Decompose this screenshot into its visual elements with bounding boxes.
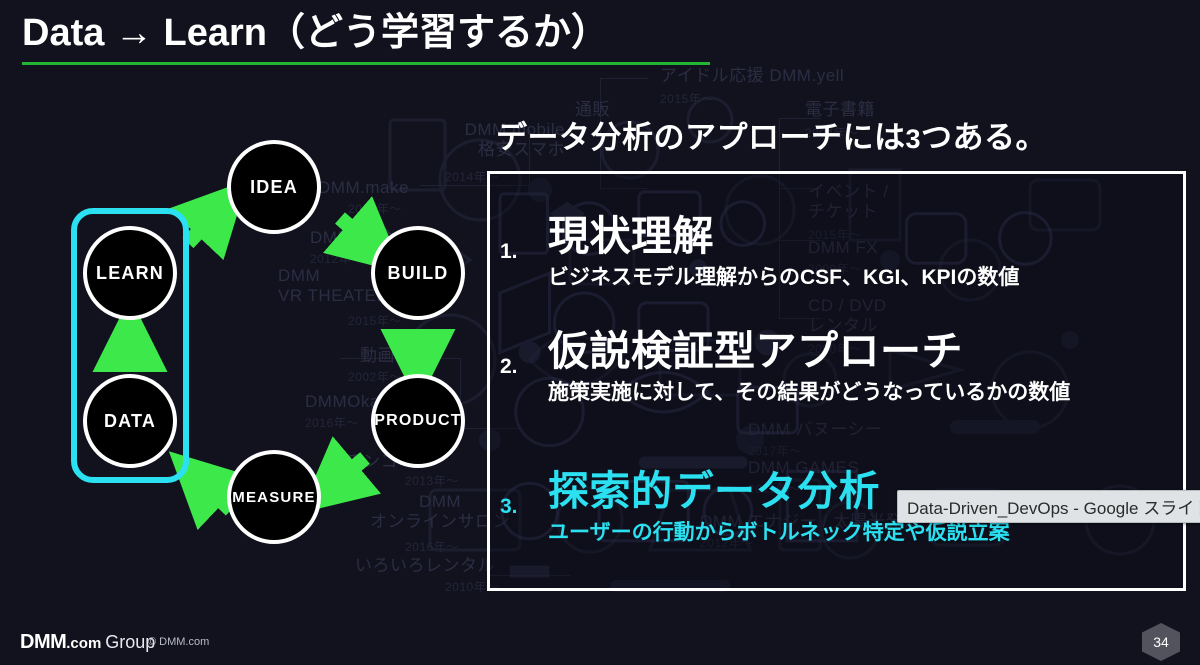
logo-dmm-text: DMM (20, 631, 66, 654)
approach-marker: 2. (500, 329, 548, 379)
approach-item-2: 2. 仮説検証型アプローチ 施策実施に対して、その結果がどうなっているかの数値 (500, 329, 1070, 406)
page-title: Data → Learn（どう学習するか） (22, 10, 712, 58)
approach-heading: 仮説検証型アプローチ (548, 329, 1070, 375)
cycle-node-idea[interactable]: IDEA (227, 140, 321, 234)
cycle-node-learn[interactable]: LEARN (83, 226, 177, 320)
watermark-connector (600, 78, 648, 79)
cycle-node-label: IDEA (250, 177, 298, 198)
window-title-tooltip: Data-Driven_DevOps - Google スライト (897, 490, 1200, 523)
cycle-node-label: PRODUCT (374, 412, 462, 430)
tooltip-label: Data-Driven_DevOps - Google スライト (907, 494, 1200, 519)
watermark-year: 2015年〜 (660, 90, 714, 107)
lede-count: 3 (906, 124, 922, 154)
cycle-node-measure[interactable]: MEASURE (227, 450, 321, 544)
page-number-badge: 34 (1142, 623, 1180, 661)
slide-canvas: アイドル応援 DMM.yell 2015年〜 電子書籍 2004年〜 通販 DM… (0, 0, 1200, 665)
approaches-panel: 1. 現状理解 ビジネスモデル理解からのCSF、KGI、KPIの数値 2. 仮説… (487, 171, 1186, 591)
approach-heading: 現状理解 (548, 214, 1019, 260)
build-measure-learn-diagram: IDEA BUILD PRODUCT MEASURE DATA LEARN (55, 128, 475, 558)
slide-title-block: Data → Learn（どう学習するか） (22, 10, 712, 65)
cycle-node-data[interactable]: DATA (83, 374, 177, 468)
page-number-label: 34 (1142, 623, 1180, 661)
approach-item-1: 1. 現状理解 ビジネスモデル理解からのCSF、KGI、KPIの数値 (500, 214, 1019, 291)
copyright-text: © DMM.com (148, 636, 209, 648)
cycle-node-label: BUILD (388, 263, 449, 284)
lede-prefix: データ分析のアプローチには (496, 120, 906, 155)
lede-suffix: つある。 (921, 120, 1047, 155)
panel-lede: データ分析のアプローチには3つある。 (496, 112, 1047, 157)
dmm-logo: DMM .com Group (20, 631, 155, 654)
slide-footer: DMM .com Group © DMM.com 34 (0, 617, 1200, 665)
approach-subtext: 施策実施に対して、その結果がどうなっているかの数値 (548, 376, 1070, 406)
approach-subtext: ビジネスモデル理解からのCSF、KGI、KPIの数値 (548, 261, 1019, 291)
cycle-node-label: LEARN (96, 263, 164, 284)
approach-marker: 1. (500, 214, 548, 264)
title-underline (22, 62, 710, 65)
watermark-label: いろいろレンタル (355, 556, 495, 576)
cycle-node-label: DATA (104, 411, 156, 432)
cycle-node-product[interactable]: PRODUCT (371, 374, 465, 468)
approach-marker: 3. (500, 469, 548, 519)
cycle-node-label: MEASURE (232, 489, 315, 506)
logo-com-text: .com (66, 635, 101, 652)
watermark-label: アイドル応援 DMM.yell (660, 66, 844, 86)
cycle-node-build[interactable]: BUILD (371, 226, 465, 320)
